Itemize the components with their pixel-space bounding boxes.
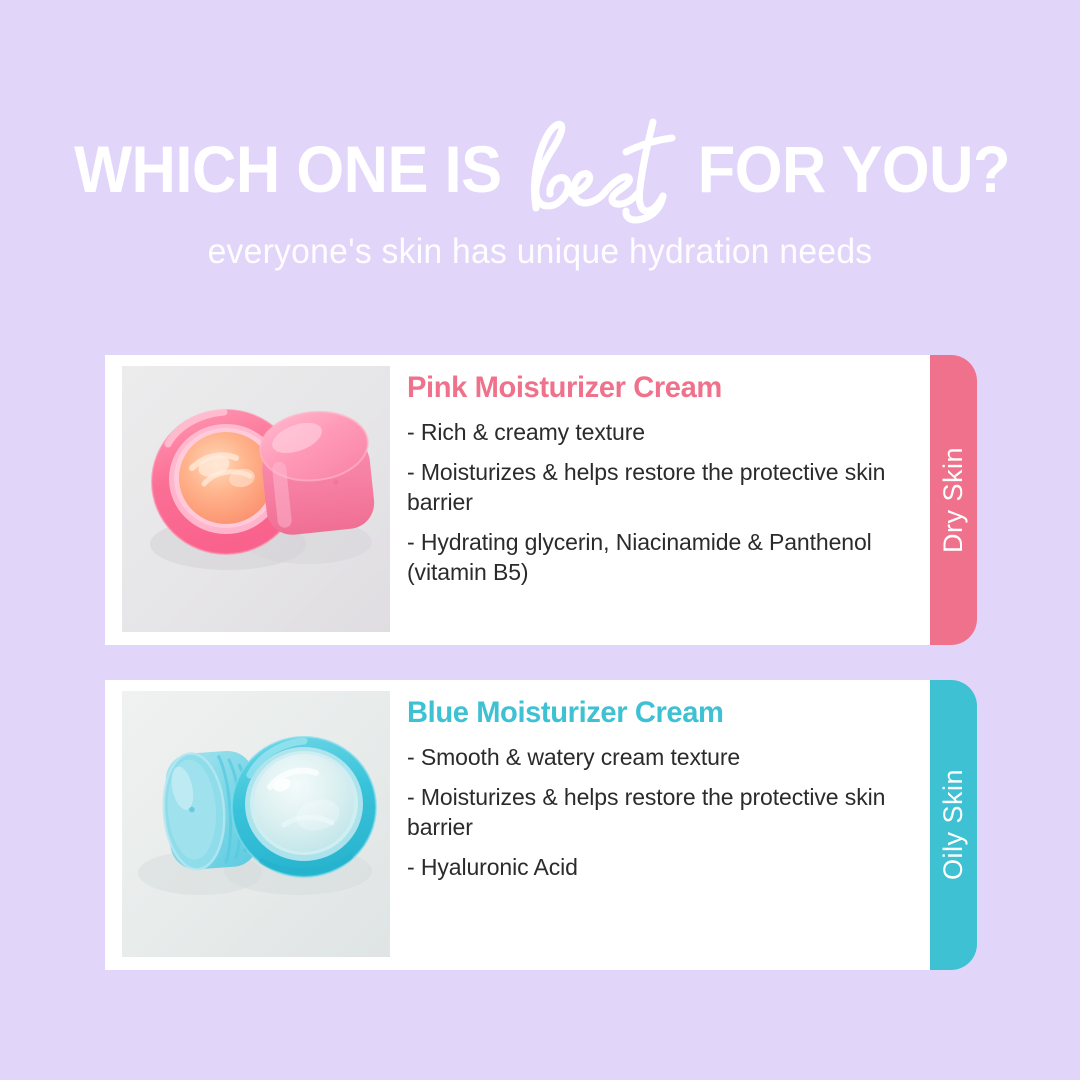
script-best-glyph (514, 112, 699, 227)
page-title-part1: WHICH ONE IS (74, 136, 502, 202)
product-bullet: - Moisturizes & helps restore the protec… (407, 458, 956, 517)
product-card-body: Pink Moisturizer Cream - Rich & creamy t… (407, 371, 972, 587)
product-bullet: - Smooth & watery cream texture (407, 743, 956, 772)
product-bullet: - Hyaluronic Acid (407, 853, 956, 882)
page-title: WHICH ONE IS FOR YOU (0, 128, 1080, 210)
product-bullet: - Hydrating glycerin, Niacinamide & Pant… (407, 528, 956, 587)
blue-moisturizer-jar-photo (122, 691, 390, 957)
blue-jar-illustration (122, 691, 390, 957)
page-title-part2: FOR YOU? (698, 136, 1010, 202)
page-subtitle: everyone's skin has unique hydration nee… (22, 232, 1059, 272)
page-title-script-best (518, 128, 686, 210)
product-card-body: Blue Moisturizer Cream - Smooth & watery… (407, 696, 972, 883)
product-title-blue: Blue Moisturizer Cream (407, 696, 940, 729)
pink-moisturizer-jar-photo (122, 366, 390, 632)
product-bullet: - Rich & creamy texture (407, 418, 956, 447)
product-comparison-list: Dry Skin (0, 355, 1080, 970)
pink-jar-illustration (122, 366, 390, 632)
product-card-blue[interactable]: Oily Skin (105, 680, 972, 970)
product-card-pink[interactable]: Dry Skin (105, 355, 972, 645)
header: WHICH ONE IS FOR YOU (0, 0, 1080, 272)
product-title-pink: Pink Moisturizer Cream (407, 371, 940, 404)
product-bullet: - Moisturizes & helps restore the protec… (407, 783, 956, 842)
